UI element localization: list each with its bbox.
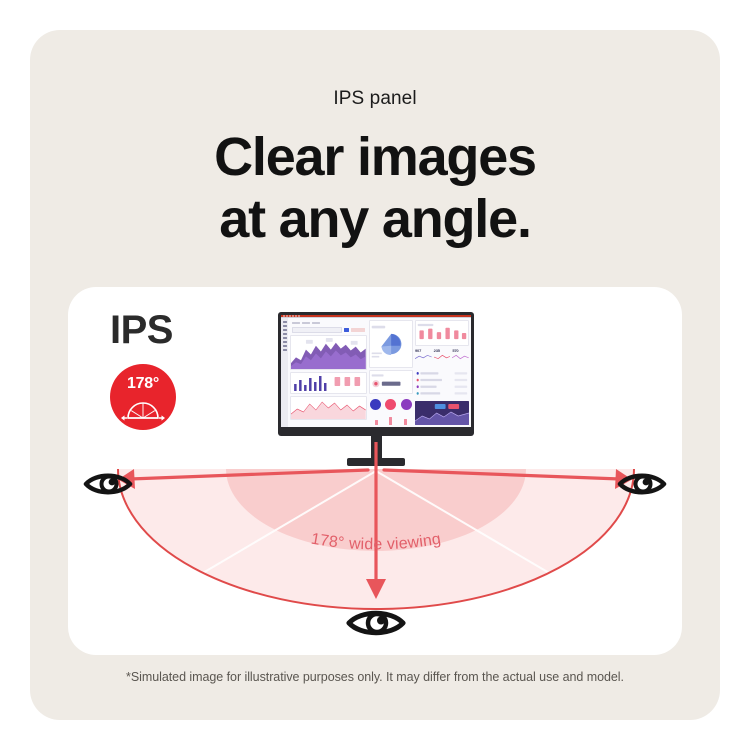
area-chart [290, 335, 367, 370]
metric-circle [370, 399, 381, 410]
tab-stats [302, 322, 310, 324]
dashboard-column-mid [369, 320, 413, 425]
line-chart [290, 396, 367, 420]
metric-circle [401, 399, 412, 410]
footnote: *Simulated image for illustrative purpos… [0, 670, 750, 684]
sidebar-item [283, 321, 287, 323]
donut-chart [369, 320, 413, 368]
dashboard-sidebar [281, 318, 288, 427]
sidebar-item [283, 349, 287, 351]
arrow-left [118, 469, 368, 489]
metric-bar [389, 417, 392, 425]
sidebar-item [283, 329, 287, 331]
illustration-card: IPS 178° [68, 287, 682, 655]
arrow-right [384, 469, 632, 489]
headline-line-1: Clear images [214, 127, 536, 187]
search-input [292, 327, 342, 333]
metric-bar [404, 419, 407, 425]
tab-home [292, 322, 300, 324]
promo-graphic: IPS panel Clear images at any angle. IPS… [0, 0, 750, 750]
monitor-frame: 907 235 [278, 312, 474, 436]
bar-chart [290, 372, 367, 394]
monitor-neck [371, 436, 382, 458]
metric-labels [369, 414, 413, 425]
eye-icon [86, 476, 130, 493]
summary-chip [351, 328, 365, 332]
ips-label: IPS [108, 310, 218, 350]
metric-bar [375, 420, 378, 425]
metric-circle [385, 399, 396, 410]
dashboard-search-row [290, 327, 367, 333]
ips-badge: IPS 178° [108, 310, 218, 430]
sidebar-item [283, 333, 287, 335]
dashboard-body: 907 235 [281, 318, 471, 427]
eye-icon [349, 613, 403, 633]
search-button [344, 328, 349, 332]
ips-angle-value: 178° [110, 375, 176, 393]
revenue-kpi-card [369, 370, 413, 394]
promo-card [415, 401, 469, 425]
viewing-angle-label: 178° wide viewing [310, 531, 443, 554]
tab-reports [312, 322, 320, 324]
dashboard-column-right: 907 235 [415, 320, 469, 425]
headline-line-2: at any angle. [0, 188, 750, 250]
sidebar-item [283, 341, 287, 343]
viewing-angle-fan-icon [118, 397, 168, 423]
monitor-base [347, 458, 405, 466]
sidebar-item [283, 345, 287, 347]
metric-circles [369, 396, 413, 412]
ips-angle-circle: 178° [110, 364, 176, 430]
page-title: Clear images at any angle. [0, 126, 750, 250]
sidebar-item [283, 325, 287, 327]
kpi-cell: 907 [415, 348, 432, 368]
monitor-screen: 907 235 [281, 315, 471, 427]
fan-dividers [196, 471, 556, 577]
kpi-cell: 570 [452, 348, 469, 368]
eye-icon [620, 476, 664, 493]
monitor-illustration: 907 235 [278, 312, 474, 466]
kpi-row: 907 235 [415, 348, 469, 368]
right-bar-chart [415, 320, 469, 346]
dashboard-tabs [290, 320, 367, 325]
dashboard-screenshot: 907 235 [281, 315, 471, 427]
data-list [415, 370, 469, 399]
dashboard-column-main [290, 320, 367, 425]
eyebrow-text: IPS panel [0, 88, 750, 110]
sidebar-item [283, 337, 287, 339]
dashboard-columns: 907 235 [288, 318, 471, 427]
kpi-cell: 235 [434, 348, 451, 368]
